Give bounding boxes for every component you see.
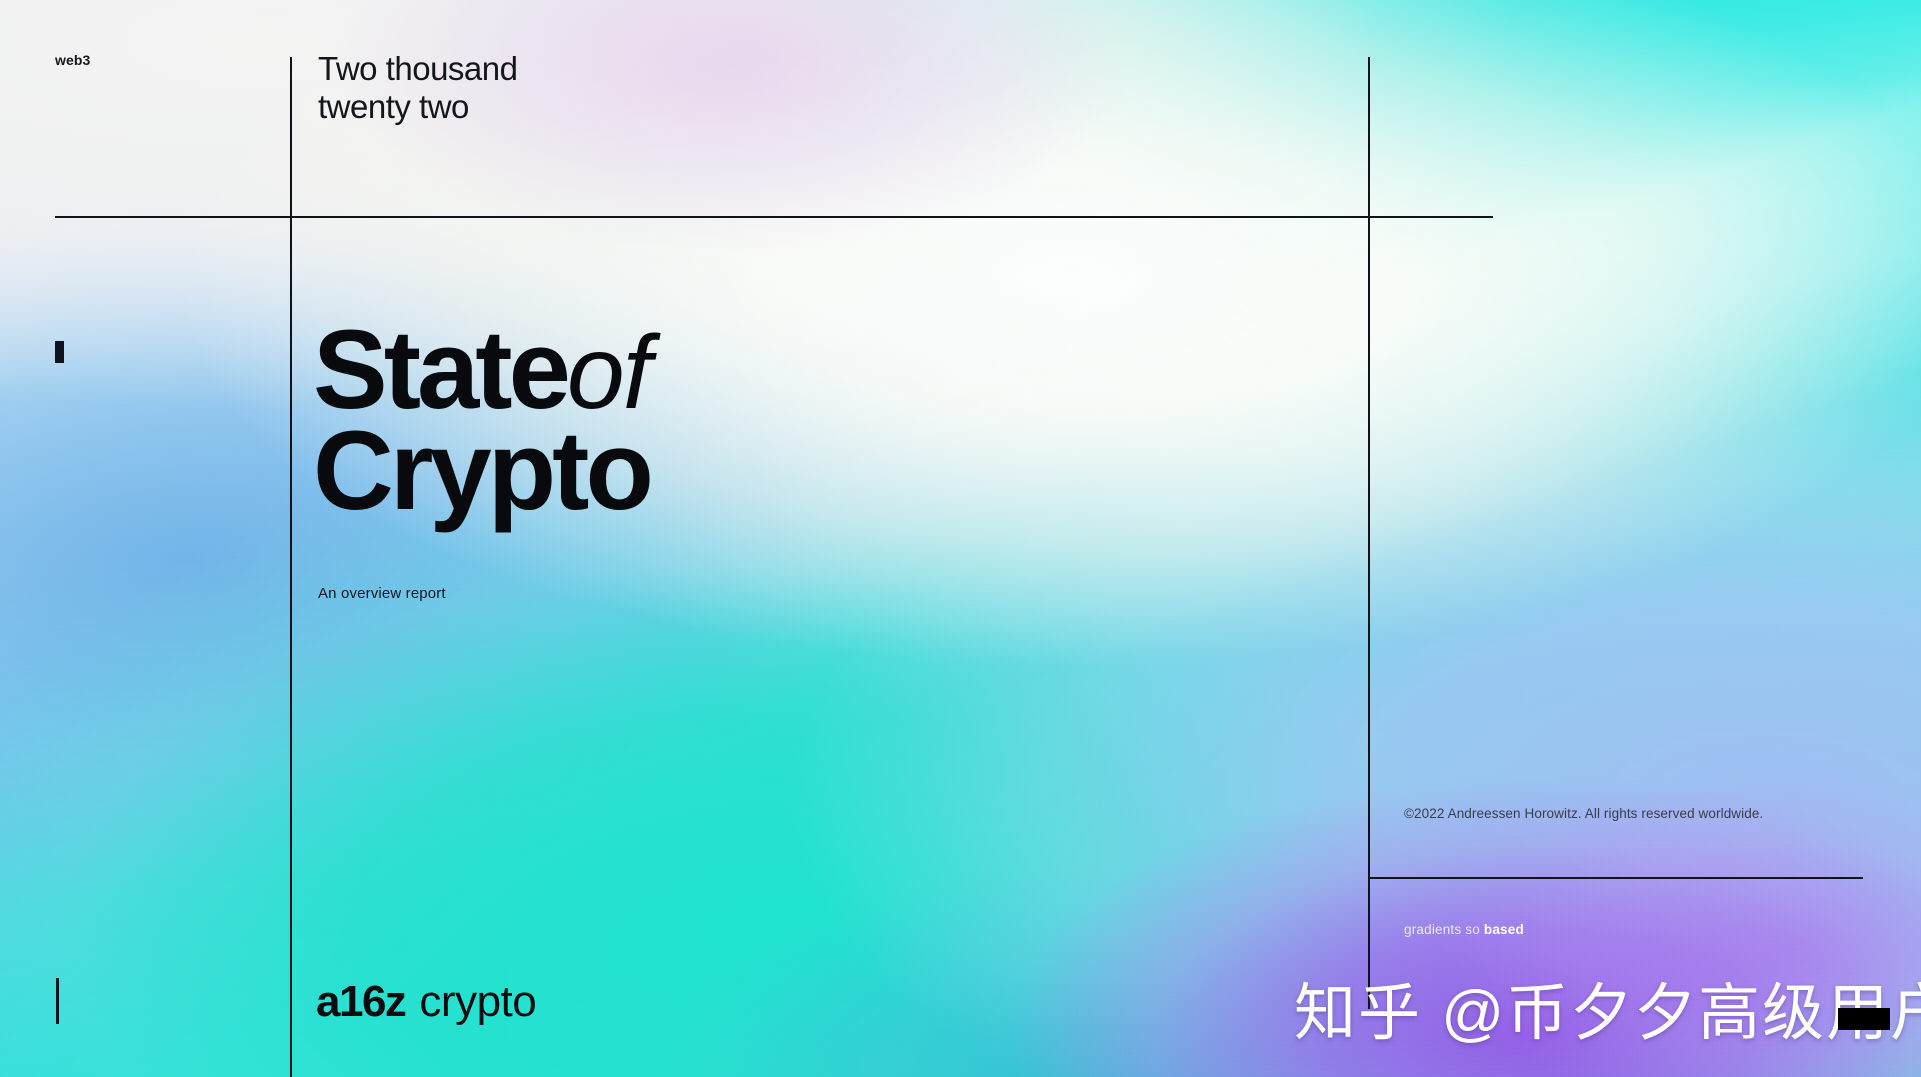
year-text: Two thousand twenty two (318, 50, 517, 125)
report-cover-page: web3 Two thousand twenty two Stateof Cry… (0, 0, 1921, 1077)
gradient-layer-light-ray (0, 0, 1921, 1077)
gradient-layer-blue-left (0, 0, 1921, 1077)
gradient-layer-teal-center (0, 0, 1921, 1077)
copyright-notice: ©2022 Andreessen Horowitz. All rights re… (1404, 806, 1763, 821)
logo-crypto-wordmark: crypto (419, 977, 536, 1027)
a16z-crypto-logo: a16z crypto (316, 977, 536, 1027)
gradient-layer-grain (0, 0, 1921, 1077)
rule-horizontal-top (55, 216, 1493, 218)
page-subtitle: An overview report (318, 585, 446, 602)
gradient-layer-base (0, 0, 1921, 1077)
tagline-emphasis: based (1484, 922, 1524, 937)
tagline: gradients so based (1404, 922, 1524, 937)
gradient-layer-white-core (0, 0, 1921, 1077)
gradient-layer-pink-top (0, 0, 1921, 1077)
gradient-layer-cyan-top-right (0, 0, 1921, 1077)
zhihu-watermark: 知乎 @币夕夕高级用户 (1294, 962, 1921, 1052)
tick-mark-square (55, 341, 64, 363)
gradient-layer-purple (0, 0, 1921, 1077)
watermark-redaction-block (1838, 1008, 1890, 1030)
page-title-line-2: Crypto (313, 421, 650, 522)
logo-a16z-wordmark: a16z (316, 977, 405, 1027)
tagline-prefix: gradients so (1404, 922, 1484, 937)
tick-mark-bar (56, 978, 59, 1024)
rule-vertical-right (1368, 57, 1370, 1009)
page-title: Stateof Crypto (313, 320, 650, 522)
gradient-layer-periwinkle (0, 0, 1921, 1077)
brand-web3-label: web3 (55, 52, 90, 68)
rule-horizontal-bottom-right (1368, 877, 1863, 879)
gradient-layer-white-left (0, 0, 1921, 1077)
gradient-layer-blue-bottom (0, 0, 1921, 1077)
gradient-layer-purple-soft (0, 0, 1921, 1077)
page-title-line-1: Stateof (313, 320, 650, 421)
rule-vertical-left (290, 57, 292, 1077)
